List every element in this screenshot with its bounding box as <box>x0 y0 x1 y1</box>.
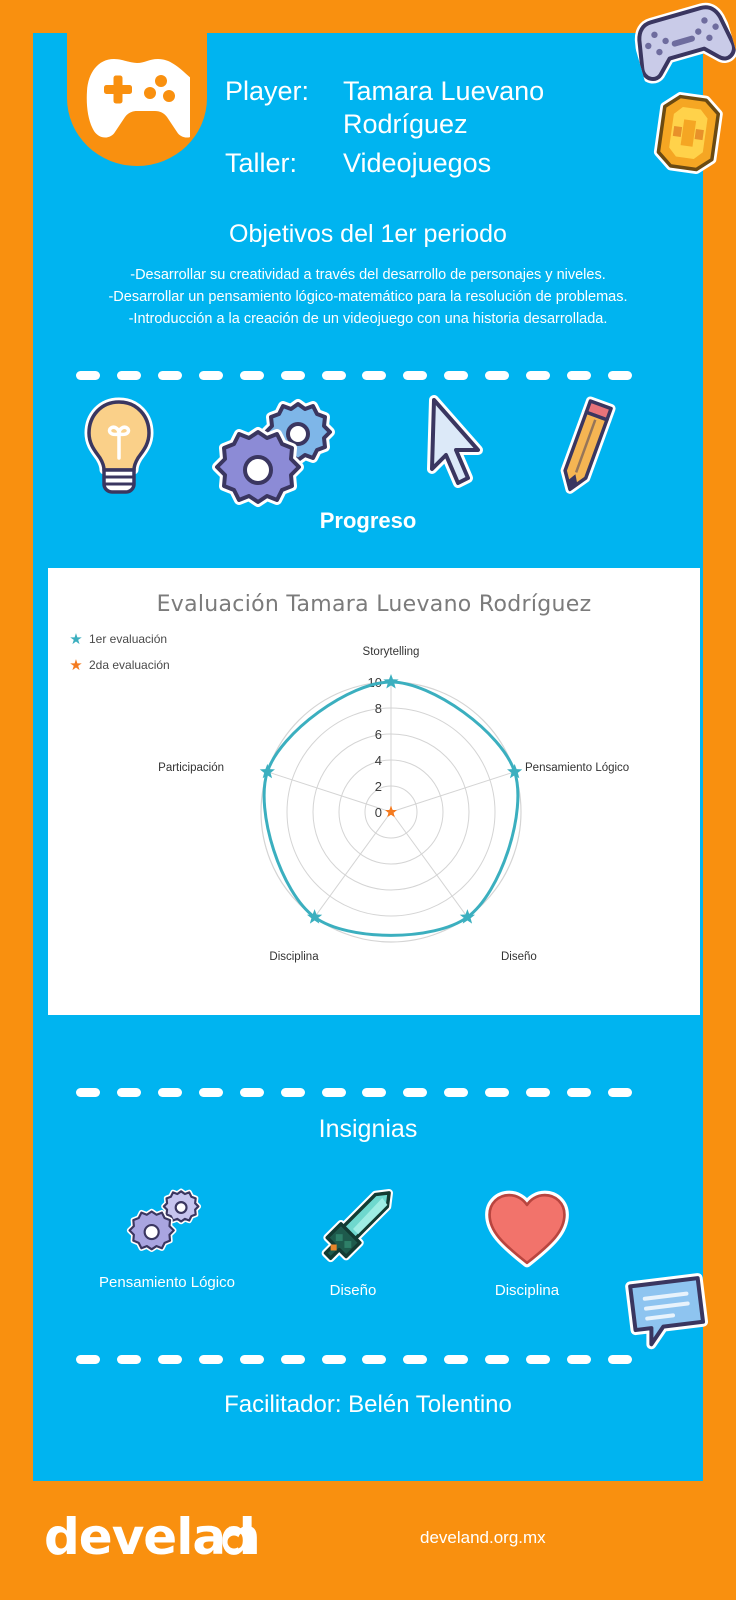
gem-coin-sticker <box>649 88 726 183</box>
badge-label: Diseño <box>268 1281 438 1300</box>
gamepad-tab <box>67 33 207 166</box>
dashed-divider <box>76 371 632 380</box>
badge-label: Pensamiento Lógico <box>82 1273 252 1292</box>
badge-label: Disciplina <box>442 1281 612 1300</box>
axis-label-participacion: Participación <box>158 762 224 774</box>
svg-text:0: 0 <box>375 805 382 820</box>
header-info: Player: Tamara Luevano Rodríguez Taller:… <box>225 76 544 179</box>
chart-title: Evaluación Tamara Luevano Rodríguez <box>48 592 700 617</box>
icon-row <box>60 392 680 507</box>
svg-text:4: 4 <box>375 753 382 768</box>
taller-value: Videojuegos <box>343 148 491 179</box>
svg-text:6: 6 <box>375 727 382 742</box>
taller-row: Taller: Videojuegos <box>225 148 544 179</box>
radar-plot: 0246810 <box>48 624 700 1004</box>
dashed-divider <box>76 1088 632 1097</box>
axis-label-disciplina: Disciplina <box>269 951 318 963</box>
objective-line: -Desarrollar un pensamiento lógico-matem… <box>63 286 673 308</box>
badge-diseno[interactable]: Diseño <box>268 1183 438 1300</box>
cursor-arrow-icon <box>420 392 492 501</box>
objective-line: -Introducción a la creación de un videoj… <box>63 308 673 330</box>
player-name-cont: Rodríguez <box>225 107 544 142</box>
badge-disciplina[interactable]: Disciplina <box>442 1183 612 1300</box>
svg-text:2: 2 <box>375 779 382 794</box>
footer: develan d develand.org.mx <box>0 1481 736 1600</box>
gears-icon <box>210 398 360 515</box>
objectives-body: -Desarrollar su creatividad a través del… <box>63 264 673 330</box>
gears-badge-icon <box>82 1175 252 1267</box>
axis-label-diseno: Diseño <box>501 951 537 963</box>
dashed-divider <box>76 1355 632 1364</box>
badge-pensamiento-logico[interactable]: Pensamiento Lógico <box>82 1175 252 1292</box>
progreso-title: Progreso <box>33 508 703 534</box>
facilitator-text: Facilitador: Belén Tolentino <box>33 1391 703 1419</box>
brand-logo[interactable]: develan d <box>44 1507 259 1574</box>
pixel-sword-badge-icon <box>268 1183 438 1275</box>
speech-bubble-sticker <box>617 1267 719 1365</box>
player-row: Player: Tamara Luevano <box>225 76 544 107</box>
taller-label: Taller: <box>225 148 343 179</box>
pencil-icon <box>550 394 620 507</box>
lightbulb-icon <box>78 394 160 509</box>
svg-text:8: 8 <box>375 701 382 716</box>
badges-row: Pensamiento Lógico Diseño <box>60 1175 680 1325</box>
footer-url[interactable]: develand.org.mx <box>420 1528 546 1548</box>
evaluation-chart-card: Evaluación Tamara Luevano Rodríguez ★ 1e… <box>48 568 700 1015</box>
radar-chart: Storytelling Pensamiento Lógico Diseño D… <box>48 624 700 1004</box>
player-name: Tamara Luevano <box>343 76 544 107</box>
axis-label-storytelling: Storytelling <box>363 646 420 658</box>
player-label: Player: <box>225 76 343 107</box>
objective-line: -Desarrollar su creatividad a través del… <box>63 264 673 286</box>
infographic-page: Player: Tamara Luevano Rodríguez Taller:… <box>0 0 736 1600</box>
insignias-title: Insignias <box>33 1115 703 1144</box>
heart-badge-icon <box>442 1183 612 1275</box>
axis-label-pensamiento-logico: Pensamiento Lógico <box>525 762 629 774</box>
objectives-title: Objetivos del 1er periodo <box>33 220 703 249</box>
